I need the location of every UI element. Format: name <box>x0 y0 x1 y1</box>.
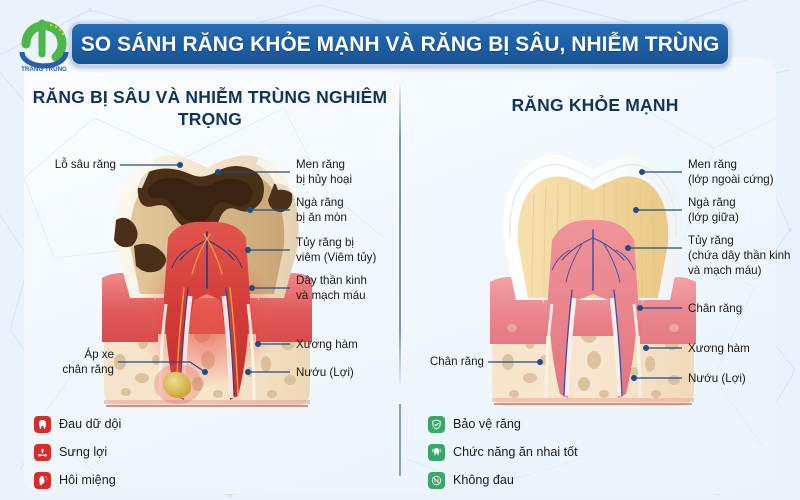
swollen-gum-icon <box>34 444 51 461</box>
bad-breath-icon <box>34 472 51 489</box>
header-banner: SO SÁNH RĂNG KHỎE MẠNH VÀ RĂNG BỊ SÂU, N… <box>70 22 730 66</box>
right-panel-title: RĂNG KHỎE MẠNH <box>420 94 770 116</box>
healthy-tooth-illustration <box>488 132 698 418</box>
label-pulp-healthy: Tủy răng (chứa dây thần kinh và mạch máu… <box>688 234 800 278</box>
panel-divider-top <box>399 84 401 384</box>
logo-text: TRANG TRUNG <box>21 66 67 73</box>
list-item: Bảo vệ răng <box>428 412 578 436</box>
list-item: Hôi miệng <box>34 468 121 492</box>
list-item-label: Hôi miệng <box>59 473 116 487</box>
tooth-icon <box>34 416 51 433</box>
label-nerve-vessels: Dây thần kinh và mạch máu <box>296 274 396 304</box>
label-enamel-healthy: Men răng (lớp ngoài cứng) <box>688 158 800 188</box>
list-item-label: Chức năng ăn nhai tốt <box>453 445 578 459</box>
label-root-abscess: Áp xe chân răng <box>14 348 114 378</box>
label-enamel-destroyed: Men răng bị hủy hoại <box>296 158 396 188</box>
label-root-right-side: Chân răng <box>408 355 484 370</box>
label-dentin-healthy: Ngà răng (lớp giữa) <box>688 196 800 226</box>
clinic-logo: Nha Khoa TRANG TRUNG <box>12 14 76 74</box>
list-item: Sưng lợi <box>34 440 121 464</box>
list-item-label: Bảo vệ răng <box>453 417 521 431</box>
label-gum-right: Nướu (Lợi) <box>688 372 788 387</box>
tooth-shield-icon <box>428 444 445 461</box>
diseased-tooth-illustration <box>98 128 316 418</box>
page-title: SO SÁNH RĂNG KHỎE MẠNH VÀ RĂNG BỊ SÂU, N… <box>81 32 720 57</box>
label-jawbone-left: Xương hàm <box>296 338 396 353</box>
label-gum-left: Nướu (Lợi) <box>296 366 396 381</box>
list-item-label: Sưng lợi <box>59 445 107 459</box>
panel-divider-bottom <box>399 404 401 476</box>
left-panel-title: RĂNG BỊ SÂU VÀ NHIỄM TRÙNG NGHIÊM TRỌNG <box>30 86 390 131</box>
list-item-label: Đau dữ dội <box>59 417 121 431</box>
list-item-label: Không đau <box>453 473 514 487</box>
shield-check-icon <box>428 416 445 433</box>
label-pulp-inflamed: Tủy răng bị viêm (Viêm tủy) <box>296 236 400 266</box>
no-pain-icon <box>428 472 445 489</box>
list-item: Chức năng ăn nhai tốt <box>428 440 578 464</box>
list-item: Không đau <box>428 468 578 492</box>
label-jawbone-right: Xương hàm <box>688 342 788 357</box>
label-cavity-hole: Lỗ sâu răng <box>24 158 116 173</box>
benefit-list: Bảo vệ răng Chức năng ăn nhai tốt Không … <box>428 412 578 496</box>
label-dentin-eroded: Ngà răng bị ăn mòn <box>296 196 396 226</box>
list-item: Đau dữ dội <box>34 412 121 436</box>
symptom-list: Đau dữ dội Sưng lợi Hôi miệng <box>34 412 121 496</box>
label-root-healthy: Chân răng <box>688 302 788 317</box>
